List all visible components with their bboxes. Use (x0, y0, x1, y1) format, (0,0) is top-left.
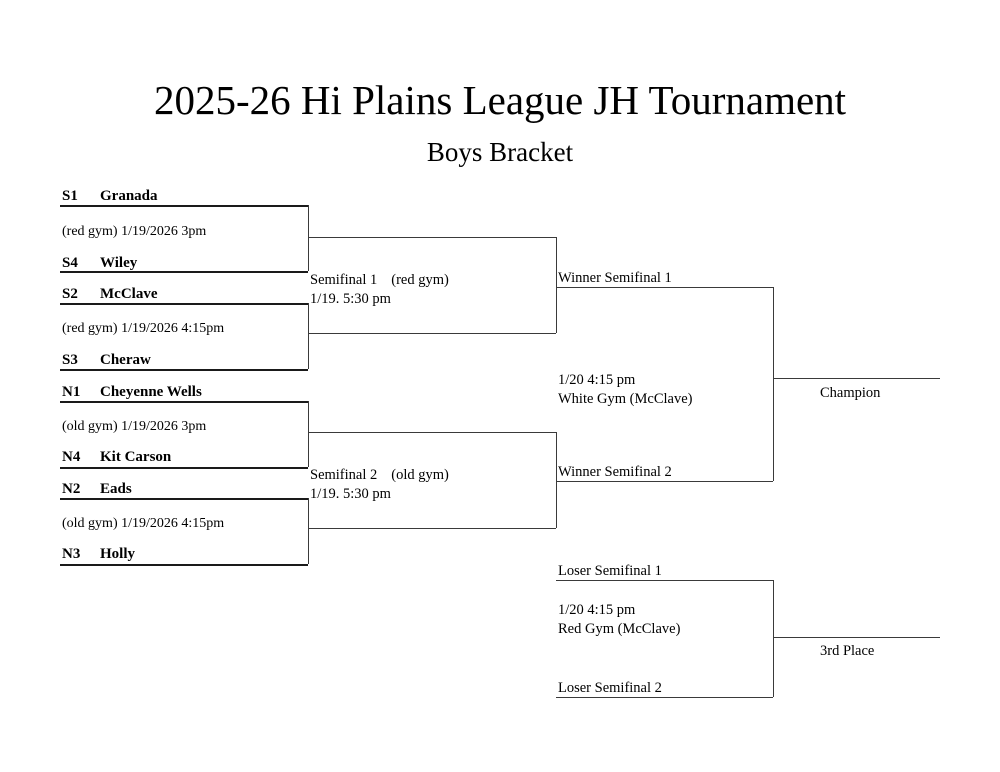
team-name: Cheraw (100, 352, 151, 368)
consolation-connector (773, 580, 774, 697)
seed-label: N1 (62, 384, 100, 401)
consolation-top-line (556, 580, 773, 581)
round1-match4-connector (308, 498, 309, 564)
seed-label: N2 (62, 481, 100, 498)
round1-match3-top-team: N1Cheyenne Wells (62, 384, 202, 401)
round1-match2-info: (red gym) 1/19/2026 4:15pm (62, 320, 224, 337)
championship-bottom-slot: Winner Semifinal 2 (558, 464, 672, 481)
team-name: Granada (100, 188, 158, 204)
semifinal-2-bottom-line (330, 528, 556, 529)
team-name: Holly (100, 546, 135, 562)
championship-game-info: 1/20 4:15 pm White Gym (McClave) (558, 371, 693, 409)
round1-match3-info: (old gym) 1/19/2026 3pm (62, 418, 206, 435)
semifinal-1-bottom-line (330, 333, 556, 334)
seed-label: N4 (62, 449, 100, 466)
consolation-top-slot: Loser Semifinal 1 (558, 563, 662, 580)
team-name: Cheyenne Wells (100, 384, 202, 400)
semifinal-2-datetime: 1/19. 5:30 pm (310, 486, 391, 502)
team-name: Kit Carson (100, 449, 171, 465)
round1-match2-top-line (60, 303, 308, 305)
round1-match3-advance-stub (308, 432, 330, 433)
semifinal-1-label: Semifinal 1(red gym) 1/19. 5:30 pm (310, 271, 449, 309)
round1-match4-top-team: N2Eads (62, 481, 132, 498)
round1-match1-connector (308, 205, 309, 271)
round1-match1-advance-stub (308, 237, 330, 238)
championship-top-line (556, 287, 773, 288)
round1-match1-info: (red gym) 1/19/2026 3pm (62, 223, 206, 240)
seed-label: S3 (62, 352, 100, 369)
team-name: Wiley (100, 255, 137, 271)
consolation-game-info: 1/20 4:15 pm Red Gym (McClave) (558, 601, 680, 639)
consolation-datetime: 1/20 4:15 pm (558, 602, 635, 618)
seed-label: N3 (62, 546, 100, 563)
round1-match4-advance-stub (308, 528, 330, 529)
bracket-page: 2025-26 Hi Plains League JH Tournament B… (0, 0, 1000, 772)
round1-match3-bottom-team: N4Kit Carson (62, 449, 171, 466)
round1-match2-top-team: S2McClave (62, 286, 157, 303)
round1-match2-connector (308, 303, 309, 369)
page-title: 2025-26 Hi Plains League JH Tournament (0, 76, 1000, 124)
semifinal-1-right-connector (556, 237, 557, 333)
semifinal-1-name: Semifinal 1 (310, 272, 377, 288)
round1-match3-connector (308, 401, 309, 467)
semifinal-1-venue: (red gym) (391, 272, 449, 288)
round1-match1-top-line (60, 205, 308, 207)
championship-connector (773, 287, 774, 481)
round1-match2-bottom-line (60, 369, 308, 371)
semifinal-1-datetime: 1/19. 5:30 pm (310, 291, 391, 307)
consolation-bottom-line (556, 697, 773, 698)
semifinal-2-right-connector (556, 432, 557, 528)
round1-match1-top-team: S1Granada (62, 188, 158, 205)
round1-match3-top-line (60, 401, 308, 403)
championship-venue: White Gym (McClave) (558, 391, 693, 407)
round1-match3-bottom-line (60, 467, 308, 469)
seed-label: S4 (62, 255, 100, 272)
semifinal-2-label: Semifinal 2(old gym) 1/19. 5:30 pm (310, 466, 449, 504)
round1-match4-info: (old gym) 1/19/2026 4:15pm (62, 515, 224, 532)
semifinal-1-top-line (330, 237, 556, 238)
team-name: Eads (100, 481, 132, 497)
team-name: McClave (100, 286, 157, 302)
champion-result-label: Champion (820, 385, 880, 402)
third-place-result-label: 3rd Place (820, 643, 874, 660)
third-place-result-line (773, 637, 940, 638)
semifinal-2-top-line (330, 432, 556, 433)
round1-match4-top-line (60, 498, 308, 500)
consolation-bottom-slot: Loser Semifinal 2 (558, 680, 662, 697)
round1-match2-bottom-team: S3Cheraw (62, 352, 151, 369)
round1-match4-bottom-line (60, 564, 308, 566)
seed-label: S1 (62, 188, 100, 205)
championship-datetime: 1/20 4:15 pm (558, 372, 635, 388)
championship-bottom-line (556, 481, 773, 482)
consolation-venue: Red Gym (McClave) (558, 621, 680, 637)
page-subtitle: Boys Bracket (0, 136, 1000, 168)
round1-match2-advance-stub (308, 333, 330, 334)
semifinal-2-name: Semifinal 2 (310, 467, 377, 483)
championship-top-slot: Winner Semifinal 1 (558, 270, 672, 287)
round1-match1-bottom-line (60, 271, 308, 273)
champion-result-line (773, 378, 940, 379)
semifinal-2-venue: (old gym) (391, 467, 449, 483)
round1-match4-bottom-team: N3Holly (62, 546, 135, 563)
round1-match1-bottom-team: S4Wiley (62, 255, 137, 272)
seed-label: S2 (62, 286, 100, 303)
